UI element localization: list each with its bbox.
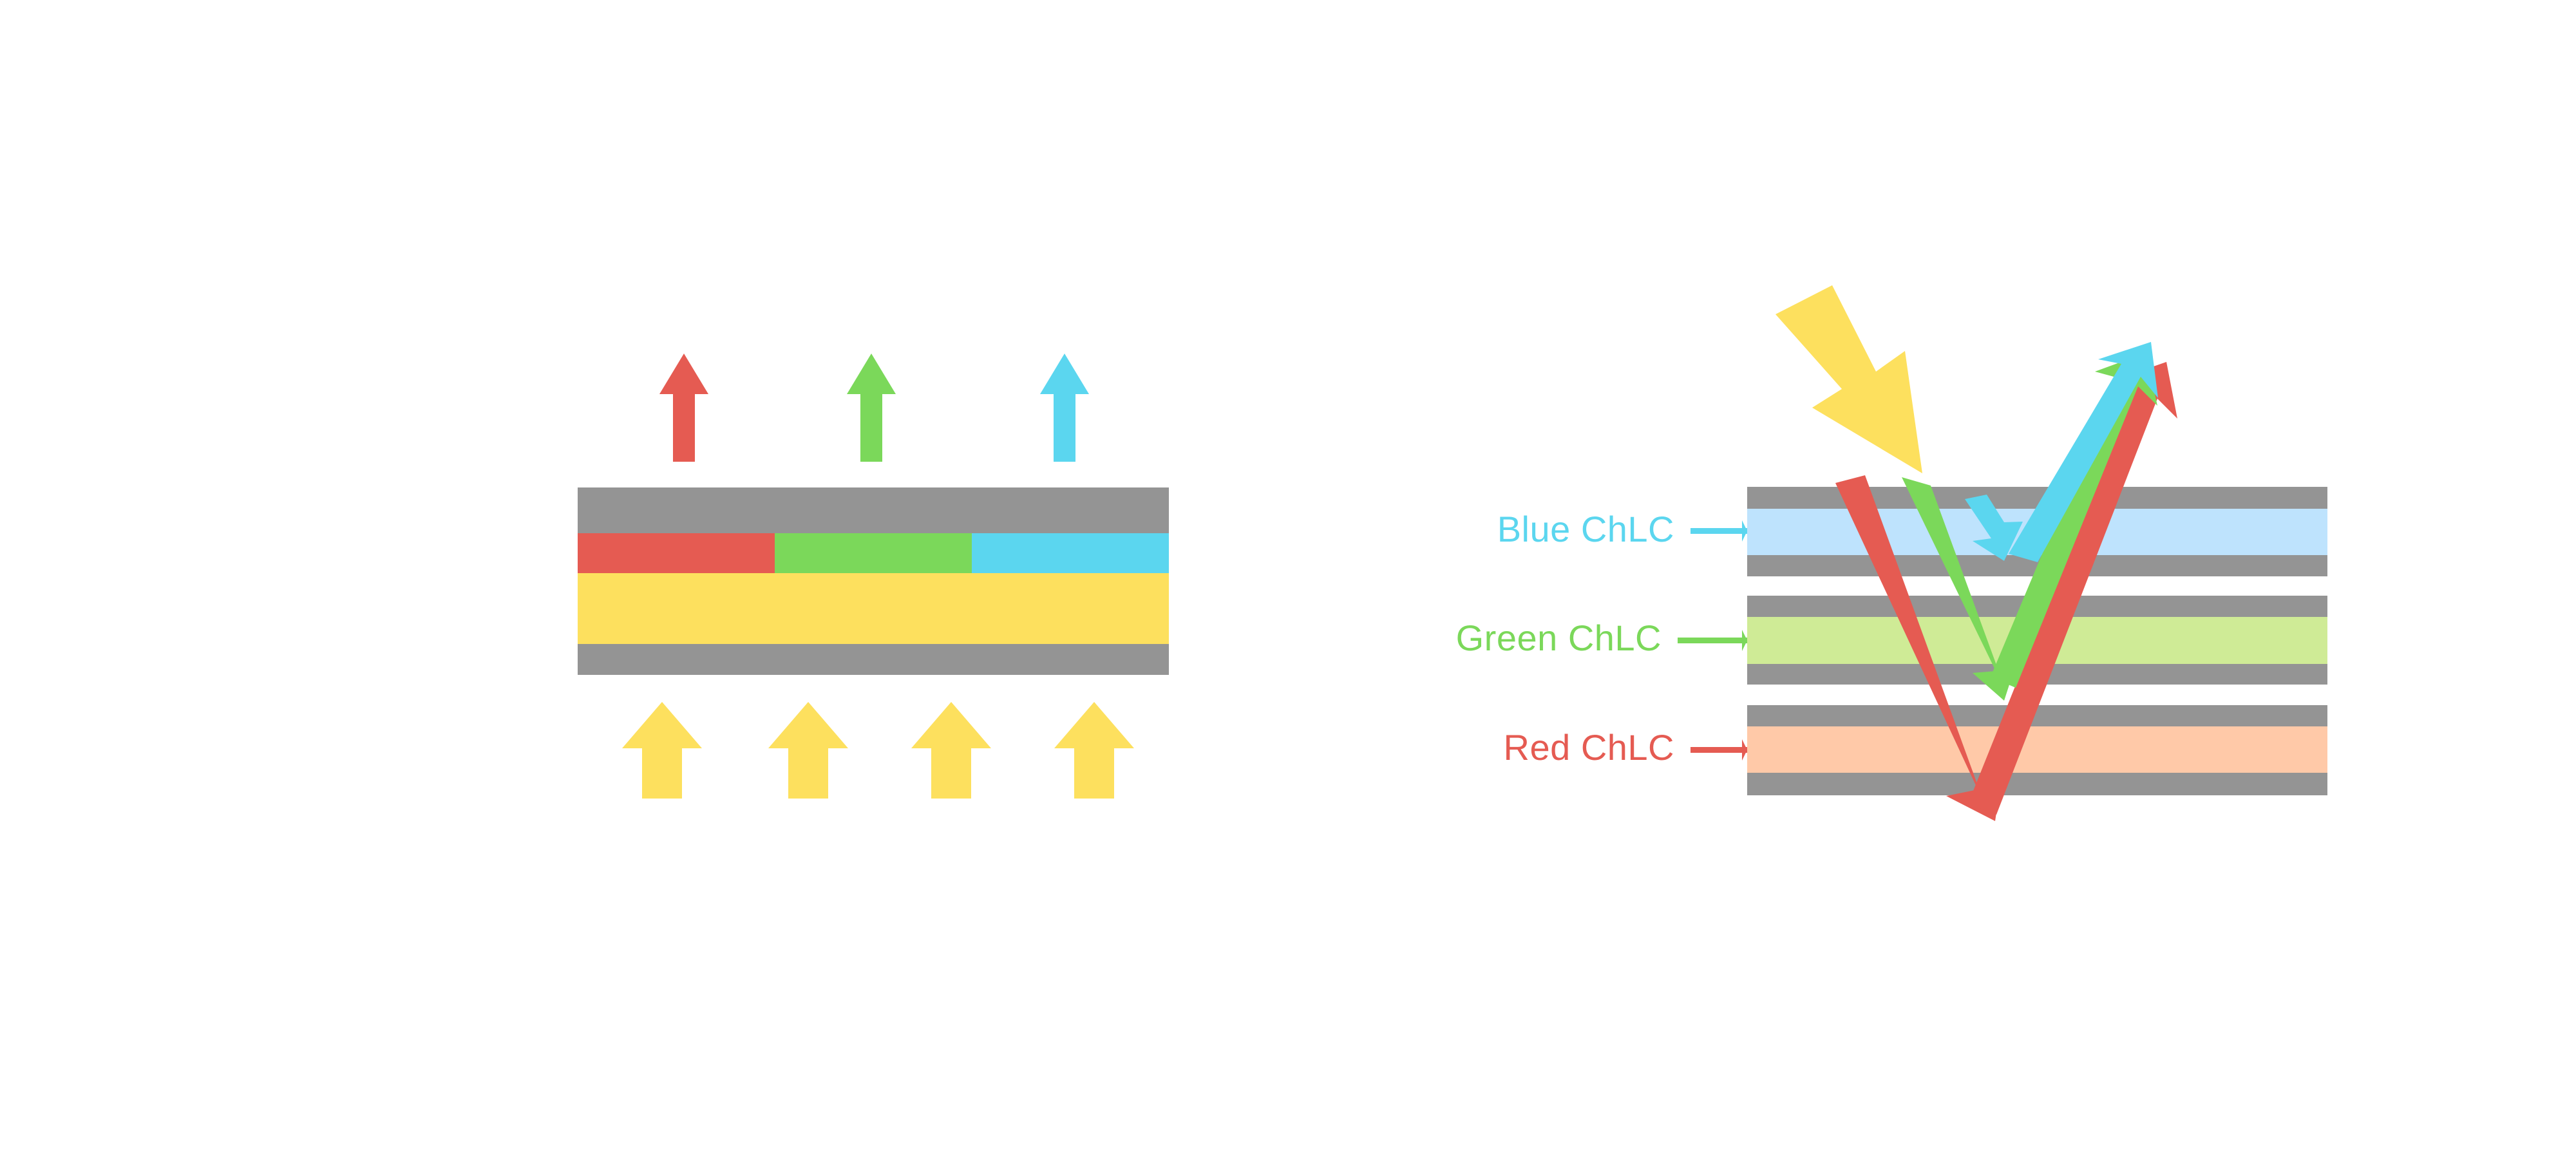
diagram-canvas: Blue ChLC Green ChLC Red ChLC: [0, 0, 2576, 1154]
bottom-electrode: [578, 644, 1169, 675]
red-chlc-layer: [1747, 726, 2327, 773]
chlc-diagram-svg: Blue ChLC Green ChLC Red ChLC: [0, 0, 2576, 1154]
yellow-backlight-layer: [578, 573, 1169, 644]
substrate-bar-1: [1747, 487, 2327, 509]
top-electrode: [578, 487, 1169, 533]
green-segment: [775, 533, 972, 573]
red-chlc-label: Red ChLC: [1504, 727, 1674, 768]
substrate-bar-6: [1747, 773, 2327, 795]
left-stack-layers: [578, 487, 1169, 675]
green-chlc-label: Green ChLC: [1456, 618, 1662, 658]
blue-chlc-label: Blue ChLC: [1497, 509, 1674, 549]
red-segment: [578, 533, 775, 573]
blue-segment: [972, 533, 1169, 573]
